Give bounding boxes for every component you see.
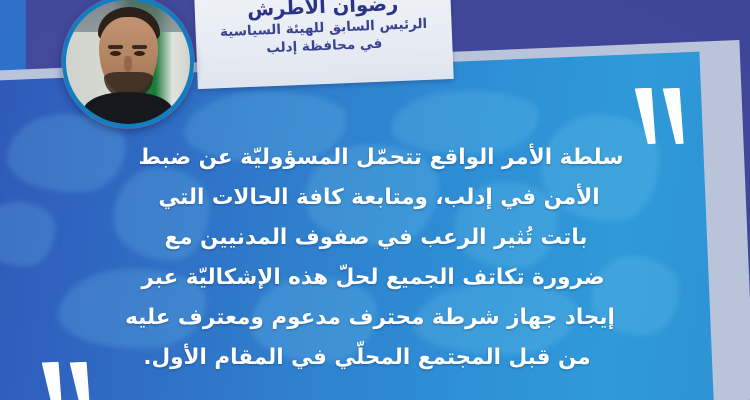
quote-text-block: سلطة الأمر الواقع تتحمّل المسؤوليّة عن ض… [0, 138, 750, 378]
quote-line-2: الأمن في إدلب، ومتابعة كافة الحالات التي [4, 178, 750, 218]
quote-line-3: باتت تُثير الرعب في صفوف المدنيين مع [1, 218, 750, 258]
avatar-brow-right [132, 45, 147, 49]
avatar-image [66, 0, 190, 124]
quote-line-5: إيجاد جهاز شرطة محترف مدعوم ومعترف عليه [0, 298, 745, 338]
speaker-avatar [62, 0, 194, 128]
avatar-brow-left [108, 45, 123, 49]
avatar-torso [83, 92, 172, 124]
quote-card: رضوان الأطرش الرئيس السابق للهيئة السياس… [0, 0, 750, 400]
quote-line-1: سلطة الأمر الواقع تتحمّل المسؤوليّة عن ض… [6, 138, 750, 178]
avatar-eye-left [110, 51, 121, 56]
avatar-eye-right [134, 51, 145, 56]
speaker-name-card: رضوان الأطرش الرئيس السابق للهيئة السياس… [194, 0, 453, 89]
quote-line-6: من قبل المجتمع المحلّي في المقام الأول. [0, 338, 742, 378]
quote-line-4: ضرورة تكاتف الجميع لحلّ هذه الإشكاليّة ع… [0, 258, 748, 298]
